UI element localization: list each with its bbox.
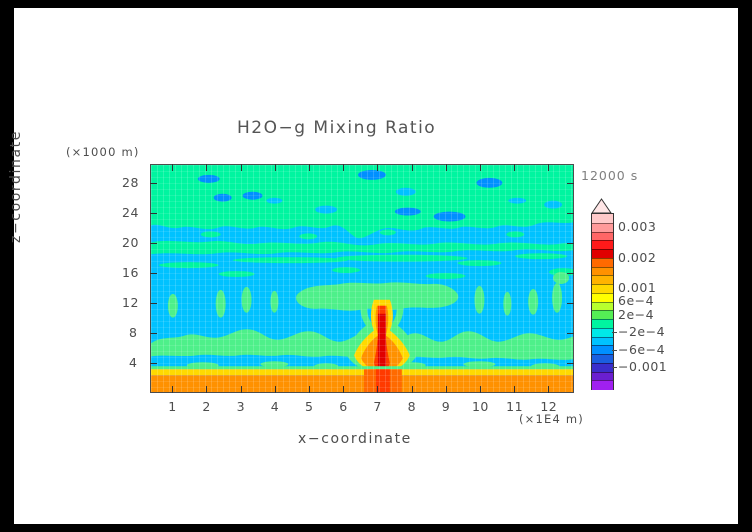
- colorbar-level-line: [592, 380, 613, 381]
- colorbar-level-line: [592, 372, 613, 373]
- y-tick-mark: [150, 183, 157, 184]
- colorbar-level-line: [592, 249, 613, 250]
- x-tick-label: 5: [305, 399, 313, 414]
- x-axis-unit-label: (×1E4 m): [519, 412, 584, 426]
- x-tick-label: 10: [472, 399, 489, 414]
- page-title: H2O−g Mixing Ratio: [237, 118, 436, 138]
- figure-canvas: H2O−g Mixing Ratio (×1000 m) 12000 s z−c…: [14, 8, 738, 524]
- y-tick-mark: [567, 303, 574, 304]
- x-tick-mark: [172, 164, 173, 171]
- colorbar-level-line: [592, 293, 613, 294]
- colorbar-level-line: [592, 354, 613, 355]
- y-tick-mark: [567, 243, 574, 244]
- y-tick-mark: [567, 333, 574, 334]
- x-tick-mark: [309, 164, 310, 171]
- y-tick-label: 28: [122, 175, 139, 190]
- colorbar: [591, 213, 614, 390]
- colorbar-level-line: [592, 258, 613, 259]
- colorbar-tick-mark: [612, 367, 617, 368]
- x-tick-label: 6: [339, 399, 347, 414]
- contour-field: [151, 165, 573, 392]
- x-tick-label: 3: [237, 399, 245, 414]
- x-tick-mark: [446, 164, 447, 171]
- x-tick-mark: [275, 164, 276, 171]
- x-tick-mark: [480, 164, 481, 171]
- x-tick-label: 7: [373, 399, 381, 414]
- x-tick-mark: [206, 164, 207, 171]
- x-axis-title: x−coordinate: [298, 431, 412, 447]
- timestamp-annotation: 12000 s: [581, 168, 638, 183]
- contour-plot-area: [150, 164, 574, 393]
- colorbar-level-line: [592, 363, 613, 364]
- colorbar-level-line: [592, 337, 613, 338]
- x-tick-mark: [377, 164, 378, 171]
- x-tick-mark: [514, 386, 515, 393]
- colorbar-segment: [592, 380, 613, 389]
- x-tick-label: 1: [168, 399, 176, 414]
- colorbar-level-line: [592, 319, 613, 320]
- y-tick-mark: [150, 303, 157, 304]
- y-tick-label: 16: [122, 265, 139, 280]
- x-tick-mark: [343, 386, 344, 393]
- x-tick-label: 9: [442, 399, 450, 414]
- y-tick-label: 24: [122, 205, 139, 220]
- x-tick-label: 11: [506, 399, 523, 414]
- x-tick-mark: [343, 164, 344, 171]
- colorbar-level-line: [592, 310, 613, 311]
- colorbar-tick-label: 0.002: [618, 250, 656, 265]
- y-tick-label: 8: [129, 325, 137, 340]
- y-tick-mark: [567, 363, 574, 364]
- colorbar-overflow-arrow: [591, 198, 612, 214]
- x-tick-mark: [309, 386, 310, 393]
- x-tick-mark: [241, 386, 242, 393]
- x-tick-mark: [172, 386, 173, 393]
- colorbar-level-line: [592, 240, 613, 241]
- y-tick-label: 12: [122, 295, 139, 310]
- y-tick-mark: [150, 243, 157, 244]
- colorbar-level-line: [592, 284, 613, 285]
- x-tick-mark: [412, 164, 413, 171]
- colorbar-level-line: [592, 275, 613, 276]
- y-tick-mark: [567, 273, 574, 274]
- colorbar-level-line: [592, 223, 613, 224]
- y-tick-mark: [150, 363, 157, 364]
- y-tick-mark: [567, 213, 574, 214]
- y-tick-mark: [150, 273, 157, 274]
- y-axis-unit-label: (×1000 m): [66, 145, 140, 159]
- x-tick-mark: [548, 386, 549, 393]
- x-tick-mark: [275, 386, 276, 393]
- y-axis-title: z−coordinate: [8, 130, 24, 243]
- x-tick-mark: [412, 386, 413, 393]
- x-tick-mark: [241, 164, 242, 171]
- colorbar-tick-label: −0.001: [618, 359, 667, 374]
- x-tick-label: 12: [540, 399, 557, 414]
- colorbar-tick-label: 2e−4: [618, 307, 654, 322]
- x-tick-mark: [446, 386, 447, 393]
- colorbar-tick-mark: [612, 350, 617, 351]
- y-tick-label: 4: [129, 355, 137, 370]
- y-tick-mark: [567, 183, 574, 184]
- x-tick-mark: [480, 386, 481, 393]
- y-tick-label: 20: [122, 235, 139, 250]
- colorbar-tick-label: −6e−4: [618, 342, 665, 357]
- colorbar-level-line: [592, 267, 613, 268]
- colorbar-level-line: [592, 345, 613, 346]
- colorbar-tick-mark: [612, 332, 617, 333]
- x-tick-mark: [377, 386, 378, 393]
- x-tick-label: 8: [408, 399, 416, 414]
- x-tick-label: 4: [271, 399, 279, 414]
- colorbar-level-line: [592, 232, 613, 233]
- x-tick-mark: [206, 386, 207, 393]
- colorbar-level-line: [592, 328, 613, 329]
- colorbar-tick-label: 0.003: [618, 219, 656, 234]
- colorbar-tick-label: −2e−4: [618, 324, 665, 339]
- x-tick-label: 2: [202, 399, 210, 414]
- colorbar-level-line: [592, 302, 613, 303]
- x-tick-mark: [548, 164, 549, 171]
- y-tick-mark: [150, 333, 157, 334]
- x-tick-mark: [514, 164, 515, 171]
- y-tick-mark: [150, 213, 157, 214]
